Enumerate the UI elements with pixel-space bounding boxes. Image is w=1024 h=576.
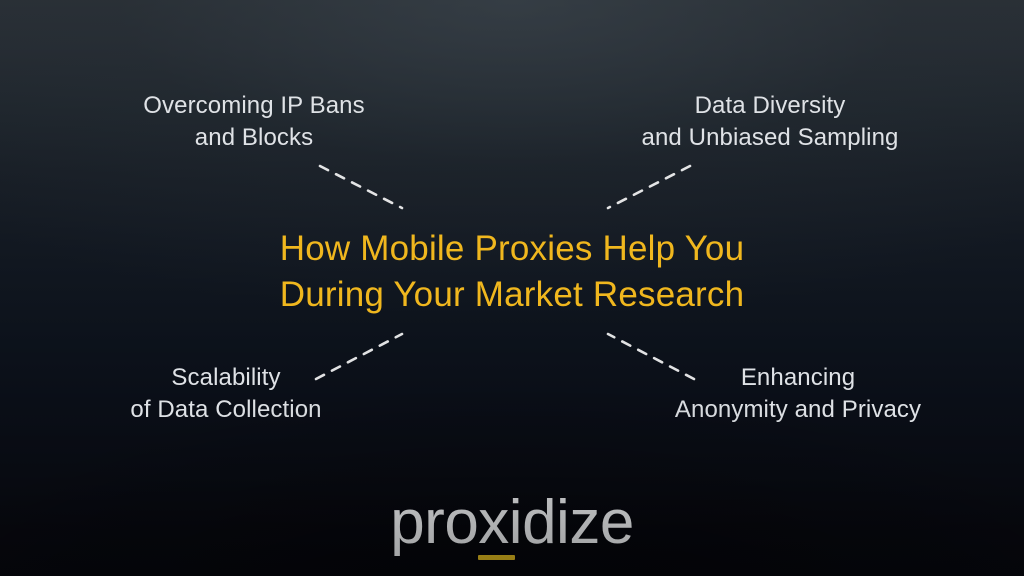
node-anonymity-privacy-line2: Anonymity and Privacy — [572, 394, 1024, 426]
brand-logo-wordmark: proxidize — [390, 492, 634, 554]
brand-logo-accent-underline — [478, 555, 515, 560]
node-scalability-line1: Scalability — [0, 362, 452, 394]
node-data-diversity-line1: Data Diversity — [516, 90, 1024, 122]
node-scalability-line2: of Data Collection — [0, 394, 452, 426]
node-data-diversity: Data Diversity and Unbiased Sampling — [516, 90, 1024, 154]
brand-logo-text: proxidize — [390, 488, 634, 557]
node-anonymity-privacy: Enhancing Anonymity and Privacy — [572, 362, 1024, 426]
node-data-diversity-line2: and Unbiased Sampling — [516, 122, 1024, 154]
connector-top-left-line — [320, 166, 402, 208]
slide-title: How Mobile Proxies Help You During Your … — [0, 226, 1024, 317]
slide-title-line1: How Mobile Proxies Help You — [0, 226, 1024, 272]
node-overcoming-ip-bans: Overcoming IP Bans and Blocks — [0, 90, 508, 154]
slide-title-line2: During Your Market Research — [0, 272, 1024, 318]
brand-logo: proxidize — [0, 492, 1024, 554]
slide-canvas: Overcoming IP Bans and Blocks Data Diver… — [0, 0, 1024, 576]
node-overcoming-ip-bans-line1: Overcoming IP Bans — [0, 90, 508, 122]
connector-top-right-line — [608, 166, 690, 208]
node-scalability: Scalability of Data Collection — [0, 362, 452, 426]
node-overcoming-ip-bans-line2: and Blocks — [0, 122, 508, 154]
node-anonymity-privacy-line1: Enhancing — [572, 362, 1024, 394]
